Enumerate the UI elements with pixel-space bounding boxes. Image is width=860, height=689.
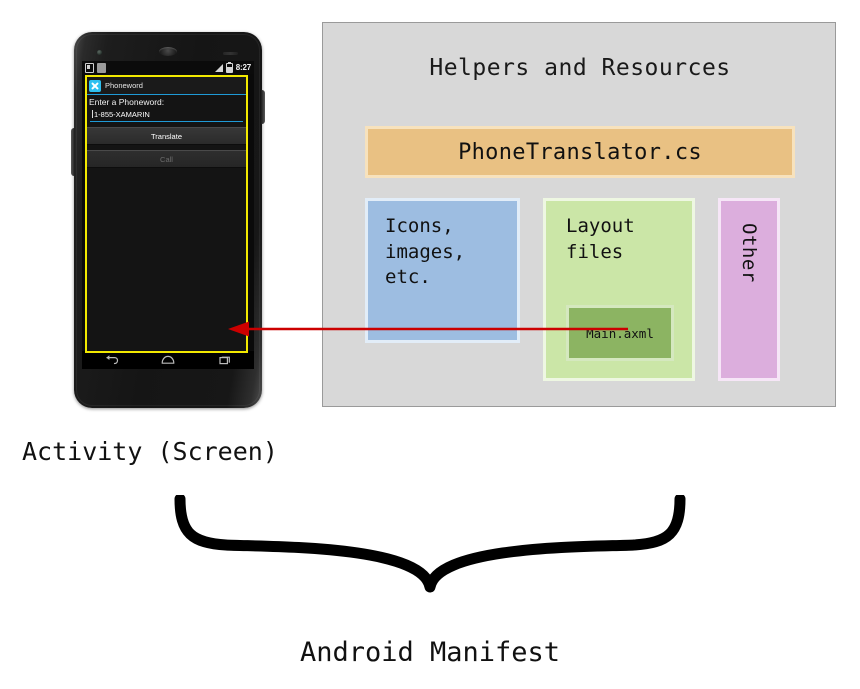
box-phonetranslator-cs-label: PhoneTranslator.cs [458, 140, 702, 165]
app-action-bar: Phoneword [87, 77, 246, 95]
layout-to-activity-arrow [228, 318, 628, 340]
phoneword-input-value: 1-855-XAMARIN [94, 110, 150, 119]
status-bar-left-icons [85, 63, 106, 73]
android-phone-mockup: 8:27 Phoneword Enter a Phoneword: 1-855-… [74, 32, 262, 408]
box-phonetranslator-cs[interactable]: PhoneTranslator.cs [365, 126, 795, 178]
signal-icon [215, 64, 223, 72]
curly-brace [170, 495, 690, 595]
phoneword-app-content: Phoneword Enter a Phoneword: 1-855-XAMAR… [87, 77, 246, 351]
home-icon[interactable] [160, 354, 176, 366]
text-caret [92, 110, 93, 118]
phone-earpiece-speaker [159, 47, 177, 56]
translate-button[interactable]: Translate [87, 127, 246, 145]
app-bar-title: Phoneword [105, 82, 143, 90]
helpers-and-resources-panel: Helpers and Resources PhoneTranslator.cs… [322, 22, 836, 407]
status-bar-right-icons: 8:27 [215, 63, 251, 73]
recent-apps-icon[interactable] [217, 354, 233, 366]
panel-title: Helpers and Resources [323, 55, 837, 81]
android-status-bar: 8:27 [82, 61, 254, 74]
activity-screen-caption: Activity (Screen) [22, 437, 278, 466]
status-bar-clock: 8:27 [236, 64, 251, 72]
phoneword-prompt-label: Enter a Phoneword: [87, 95, 246, 109]
battery-icon [226, 63, 233, 73]
android-navigation-bar [82, 351, 254, 369]
sd-card-icon [97, 63, 106, 73]
box-other-label: Other [738, 223, 760, 283]
phone-proximity-sensor [223, 52, 238, 55]
call-button[interactable]: Call [87, 150, 246, 168]
android-manifest-caption: Android Manifest [0, 637, 860, 668]
box-other[interactable]: Other [718, 198, 780, 381]
sim-card-icon [85, 63, 94, 73]
phone-front-camera [97, 50, 102, 55]
xamarin-logo-icon [89, 80, 101, 92]
phone-volume-button [71, 128, 75, 176]
back-icon[interactable] [103, 354, 119, 366]
box-layout-files-label: Layout files [566, 214, 692, 265]
phoneword-input[interactable]: 1-855-XAMARIN [90, 109, 243, 122]
phone-power-button [261, 90, 265, 124]
box-icons-images-label: Icons, images, etc. [385, 214, 517, 291]
